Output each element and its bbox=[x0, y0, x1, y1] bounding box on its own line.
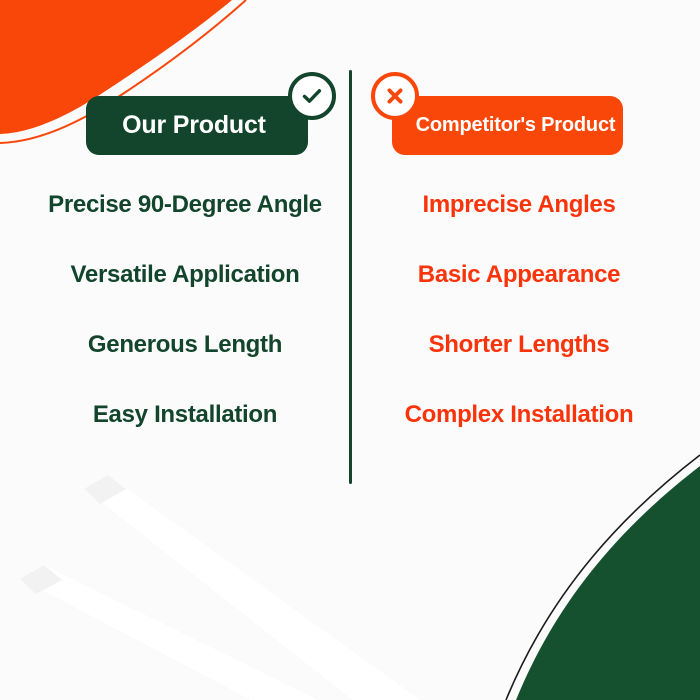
competitor-feature-4: Complex Installation bbox=[354, 380, 684, 450]
table-row: Versatile Application Basic Appearance bbox=[0, 240, 700, 310]
check-circle-icon bbox=[288, 72, 336, 120]
column-headers: Our Product Competitor's Product bbox=[0, 96, 700, 156]
competitor-feature-1: Imprecise Angles bbox=[354, 170, 684, 240]
comparison-infographic: Our Product Competitor's Product Precise… bbox=[0, 0, 700, 700]
our-product-badge[interactable]: Our Product bbox=[86, 96, 308, 155]
feature-comparison-list: Precise 90-Degree Angle Imprecise Angles… bbox=[0, 170, 700, 450]
comparison-content: Our Product Competitor's Product Precise… bbox=[0, 0, 700, 700]
our-feature-3: Generous Length bbox=[24, 310, 346, 380]
cross-circle-icon bbox=[371, 72, 419, 120]
table-row: Easy Installation Complex Installation bbox=[0, 380, 700, 450]
our-product-label: Our Product bbox=[122, 111, 272, 140]
competitor-feature-3: Shorter Lengths bbox=[354, 310, 684, 380]
our-feature-2: Versatile Application bbox=[24, 240, 346, 310]
competitor-feature-2: Basic Appearance bbox=[354, 240, 684, 310]
table-row: Precise 90-Degree Angle Imprecise Angles bbox=[0, 170, 700, 240]
table-row: Generous Length Shorter Lengths bbox=[0, 310, 700, 380]
competitor-product-badge[interactable]: Competitor's Product bbox=[392, 96, 623, 155]
our-feature-1: Precise 90-Degree Angle bbox=[24, 170, 346, 240]
competitor-product-label: Competitor's Product bbox=[400, 114, 616, 137]
our-feature-4: Easy Installation bbox=[24, 380, 346, 450]
